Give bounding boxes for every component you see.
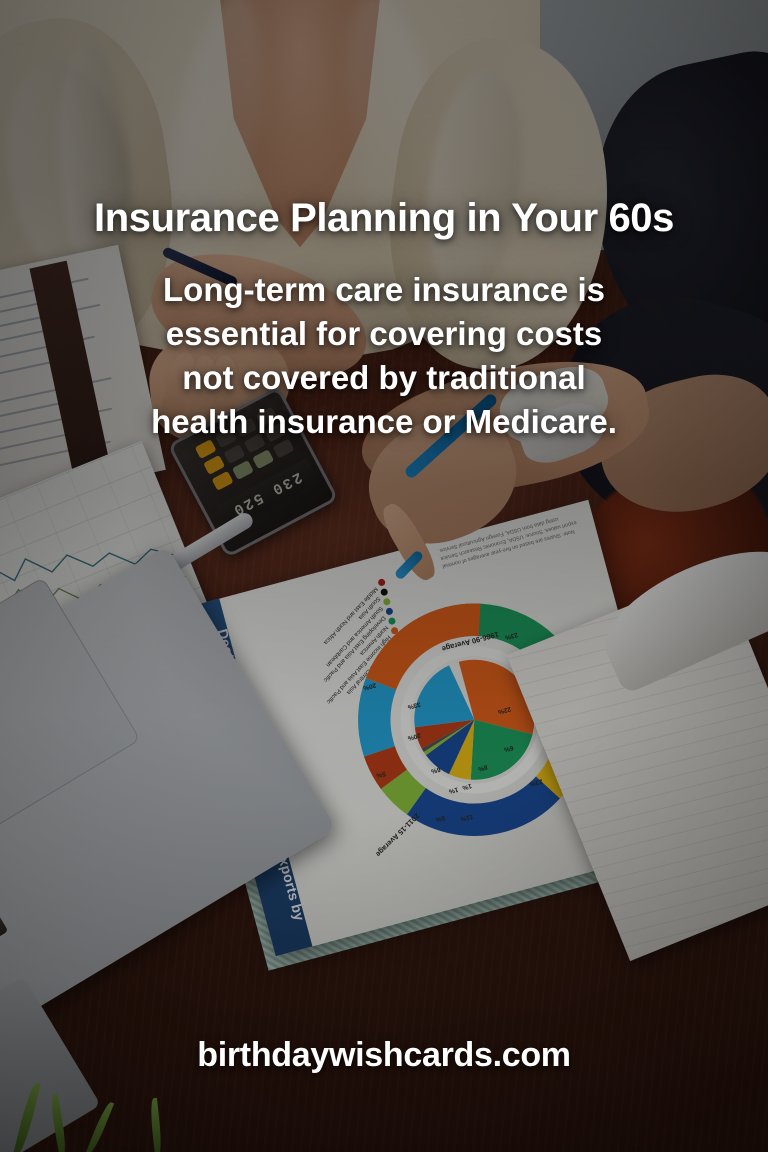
site-watermark[interactable]: birthdaywishcards.com [0,1036,768,1075]
subtitle-line: essential for covering costs [70,312,698,356]
social-card: Destinations for U.S. agricultural expor… [0,0,768,1152]
subtitle-line: health insurance or Medicare. [70,400,698,444]
subtitle-block: Long-term care insurance is essential fo… [0,268,768,444]
text-overlay: Insurance Planning in Your 60s Long-term… [0,0,768,1152]
subtitle-line: not covered by traditional [70,356,698,400]
page-title: Insurance Planning in Your 60s [0,196,768,241]
subtitle-line: Long-term care insurance is [70,268,698,312]
